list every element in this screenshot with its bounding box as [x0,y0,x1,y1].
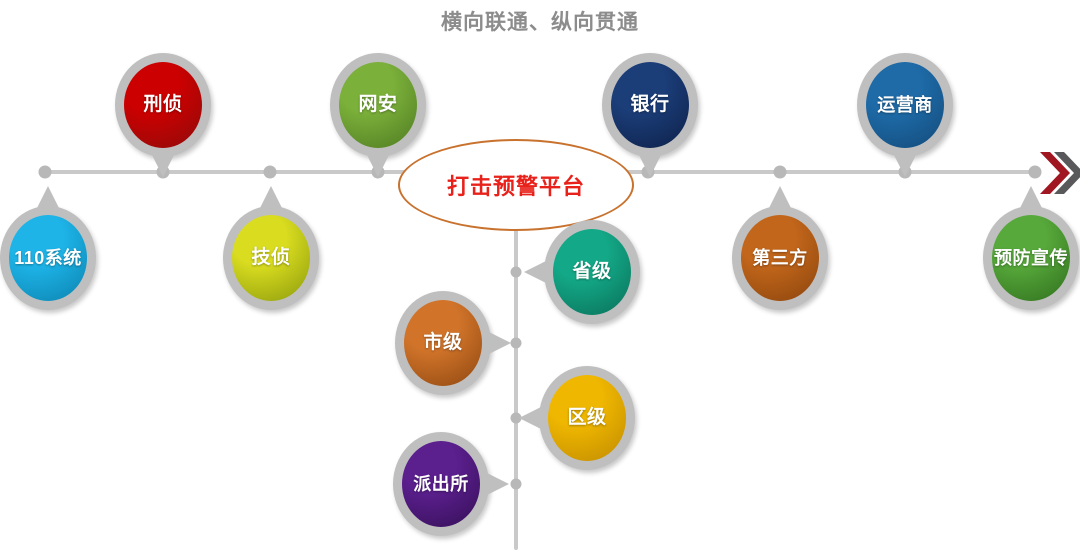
pin-label-paichusuo: 派出所 [402,441,480,527]
axis-dot-vertical-1 [511,338,522,349]
pin-label-disanfang: 第三方 [741,215,819,301]
pin-label-shengji: 省级 [553,229,631,315]
pin-jizhen[interactable]: 技侦 [223,206,319,310]
pin-label-yinhang: 银行 [611,62,689,148]
pin-tail-up-icon [37,186,59,208]
pin-body-xingzhen: 刑侦 [115,53,211,157]
pin-tail-up-icon [1020,186,1042,208]
pin-body-yufang-xuanchuan: 预防宣传 [983,206,1079,310]
pin-paichusuo[interactable]: 派出所 [393,432,489,536]
axis-dot-horizontal-2 [264,166,277,179]
pin-body-shengji: 省级 [544,220,640,324]
pin-label-yufang-xuanchuan: 预防宣传 [992,215,1070,301]
pin-tail-left-icon [524,261,546,283]
pin-body-paichusuo: 派出所 [393,432,489,536]
pin-tail-left-icon [519,407,541,429]
pin-yinhang[interactable]: 银行 [602,53,698,157]
pin-xingzhen[interactable]: 刑侦 [115,53,211,157]
pin-tail-up-icon [769,186,791,208]
pin-yunyingshang[interactable]: 运营商 [857,53,953,157]
pin-tail-down-icon [367,155,389,177]
pin-tail-down-icon [639,155,661,177]
pin-label-quji: 区级 [548,375,626,461]
pin-wangan[interactable]: 网安 [330,53,426,157]
axis-dot-horizontal-5 [774,166,787,179]
pin-body-wangan: 网安 [330,53,426,157]
pin-body-shiji: 市级 [395,291,491,395]
pin-label-yunyingshang: 运营商 [866,62,944,148]
pin-110-xitong[interactable]: 110系统 [0,206,96,310]
arrow-head-icon [1040,150,1080,196]
pin-disanfang[interactable]: 第三方 [732,206,828,310]
pin-label-xingzhen: 刑侦 [124,62,202,148]
diagram-canvas: 横向联通、纵向贯通 打击预警平台 刑侦网安银行运营商110系统技侦第三方预防宣传… [0,0,1080,550]
pin-body-yunyingshang: 运营商 [857,53,953,157]
pin-shiji[interactable]: 市级 [395,291,491,395]
pin-body-yinhang: 银行 [602,53,698,157]
pin-tail-down-icon [894,155,916,177]
pin-label-wangan: 网安 [339,62,417,148]
pin-label-110-xitong: 110系统 [9,215,87,301]
pin-tail-right-icon [489,332,511,354]
pin-body-110-xitong: 110系统 [0,206,96,310]
pin-yufang-xuanchuan[interactable]: 预防宣传 [983,206,1079,310]
axis-dot-vertical-0 [511,267,522,278]
pin-body-quji: 区级 [539,366,635,470]
pin-label-jizhen: 技侦 [232,215,310,301]
pin-quji[interactable]: 区级 [539,366,635,470]
pin-body-disanfang: 第三方 [732,206,828,310]
vertical-axis-line [514,205,518,550]
pin-label-shiji: 市级 [404,300,482,386]
pin-shengji[interactable]: 省级 [544,220,640,324]
axis-dot-horizontal-0 [39,166,52,179]
pin-body-jizhen: 技侦 [223,206,319,310]
axis-dot-vertical-3 [511,479,522,490]
page-title: 横向联通、纵向贯通 [0,6,1080,36]
central-platform-label: 打击预警平台 [447,169,585,201]
pin-tail-down-icon [152,155,174,177]
pin-tail-up-icon [260,186,282,208]
pin-tail-right-icon [487,473,509,495]
central-platform-node[interactable]: 打击预警平台 [398,139,634,231]
